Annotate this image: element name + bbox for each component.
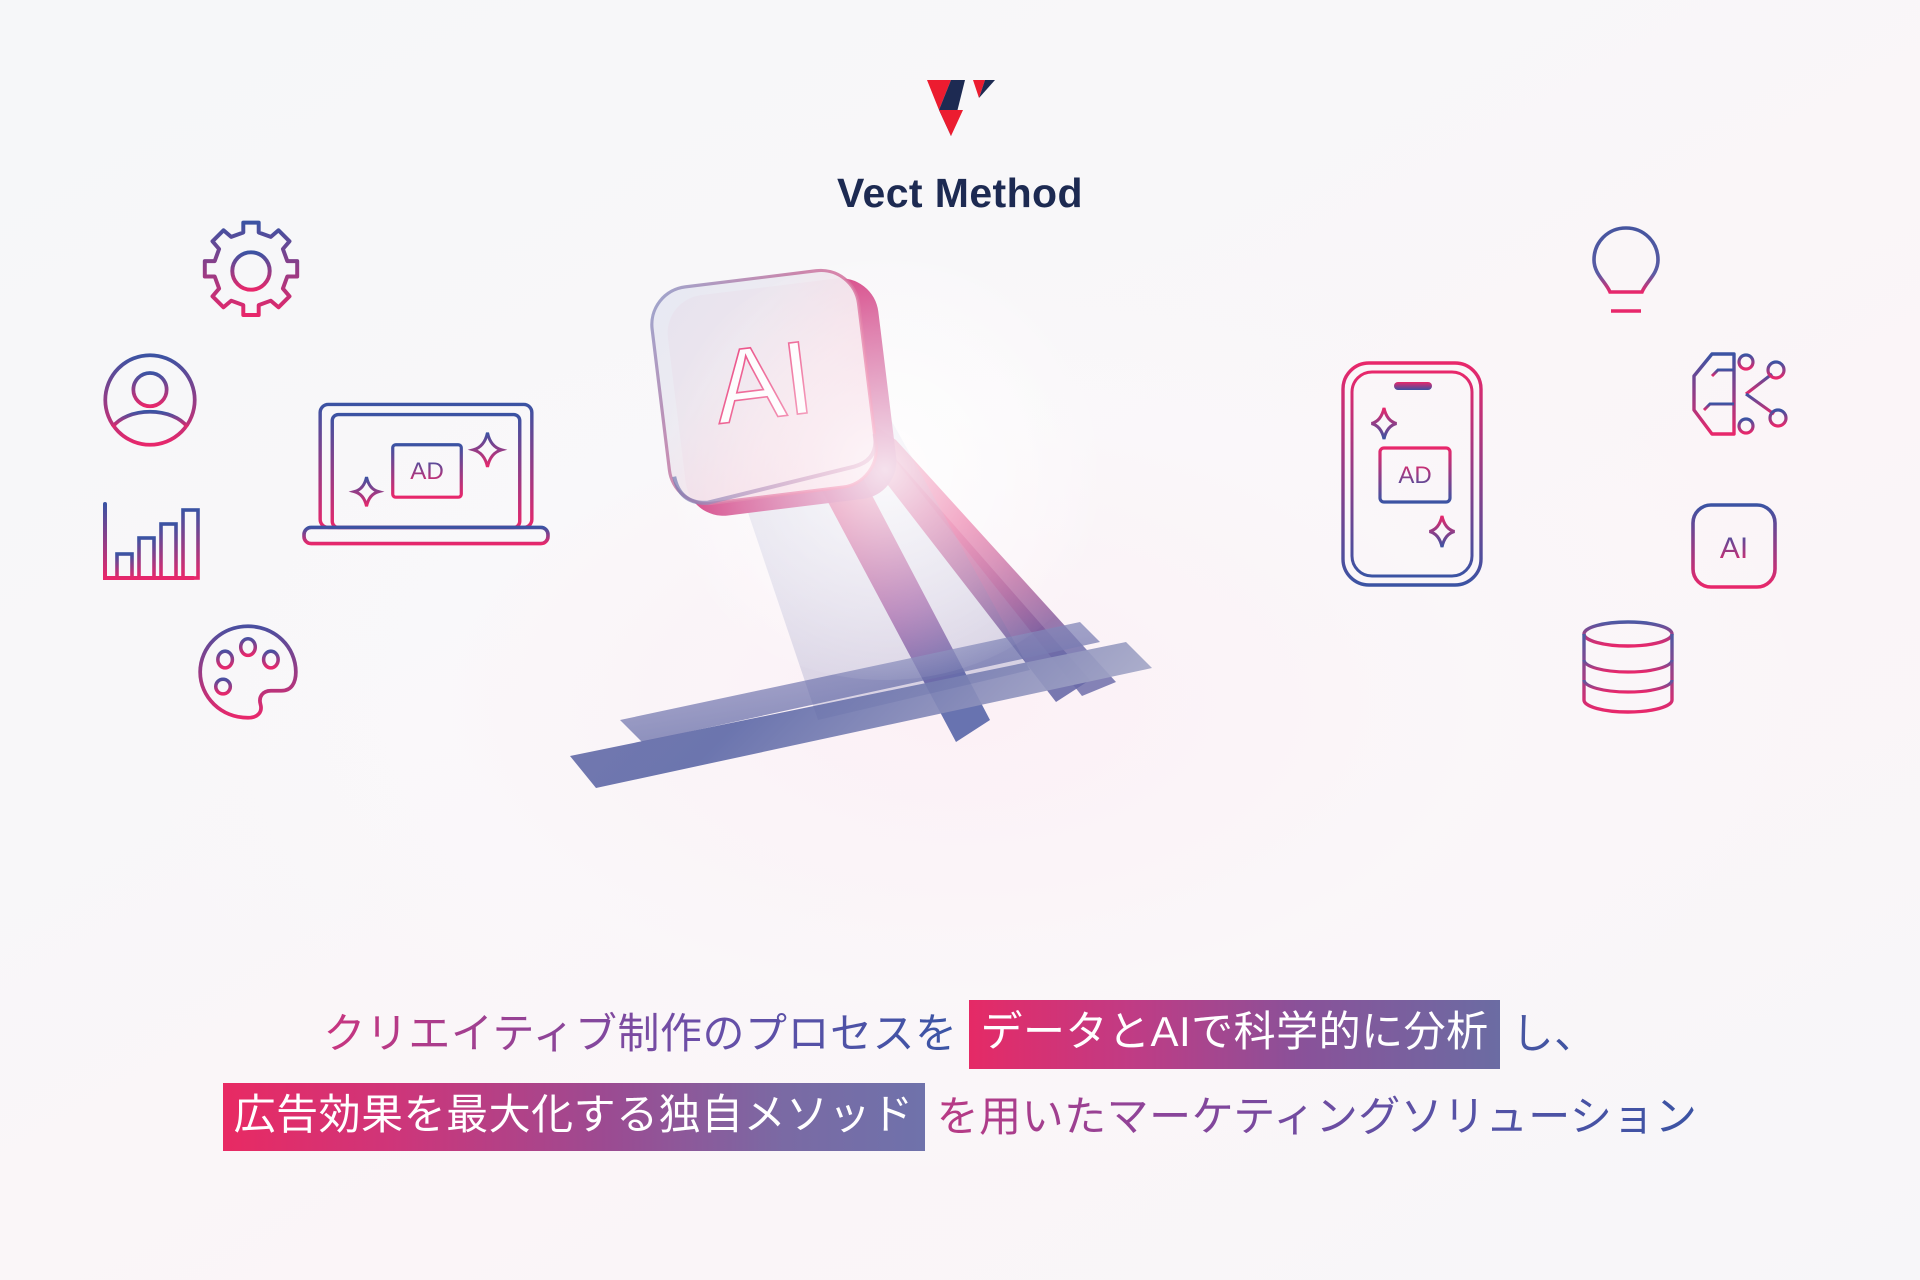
caption-block: クリエイティブ制作のプロセスを データとAIで科学的に分析 し、 広告効果を最大… (0, 1000, 1920, 1151)
gear-icon (196, 216, 306, 326)
caption-line1-suffix: し、 (1512, 1007, 1597, 1062)
hero-artwork: AI (560, 250, 1360, 790)
caption-line1-highlight: データとAIで科学的に分析 (969, 1000, 1499, 1069)
vect-v-logo-icon (921, 78, 999, 140)
brand-name: Vect Method (837, 170, 1083, 217)
sparkle-icon (1430, 516, 1455, 547)
caption-line2-suffix: を用いたマーケティングソリューション (937, 1090, 1698, 1145)
palette-icon (196, 622, 300, 722)
phone-ad-label: AD (1398, 462, 1431, 489)
ai-brain-icon (1688, 348, 1796, 440)
brand-block: Vect Method (0, 78, 1920, 217)
phone-ad-icon: AD (1338, 358, 1486, 590)
sparkle-icon (473, 433, 501, 467)
sparkle-icon (354, 477, 378, 506)
caption-line-1: クリエイティブ制作のプロセスを データとAIで科学的に分析 し、 (323, 1000, 1596, 1069)
bar-chart-icon (96, 500, 198, 584)
laptop-ad-label: AD (410, 458, 444, 485)
database-icon (1576, 618, 1680, 716)
caption-line-2: 広告効果を最大化する独自メソッド を用いたマーケティングソリューション (223, 1083, 1698, 1152)
lightbulb-icon (1578, 222, 1674, 318)
caption-line1-prefix: クリエイティブ制作のプロセスを (323, 1007, 957, 1062)
ai-box-icon: AI (1688, 500, 1780, 592)
sparkle-icon (1372, 408, 1397, 439)
ai-box-label: AI (1720, 532, 1748, 565)
laptop-ad-icon: AD (300, 398, 552, 550)
slide-canvas: Vect Method (0, 0, 1920, 1280)
caption-line2-highlight: 広告効果を最大化する独自メソッド (223, 1083, 925, 1152)
hero-ai-label: AI (708, 319, 820, 446)
user-icon (98, 348, 202, 452)
